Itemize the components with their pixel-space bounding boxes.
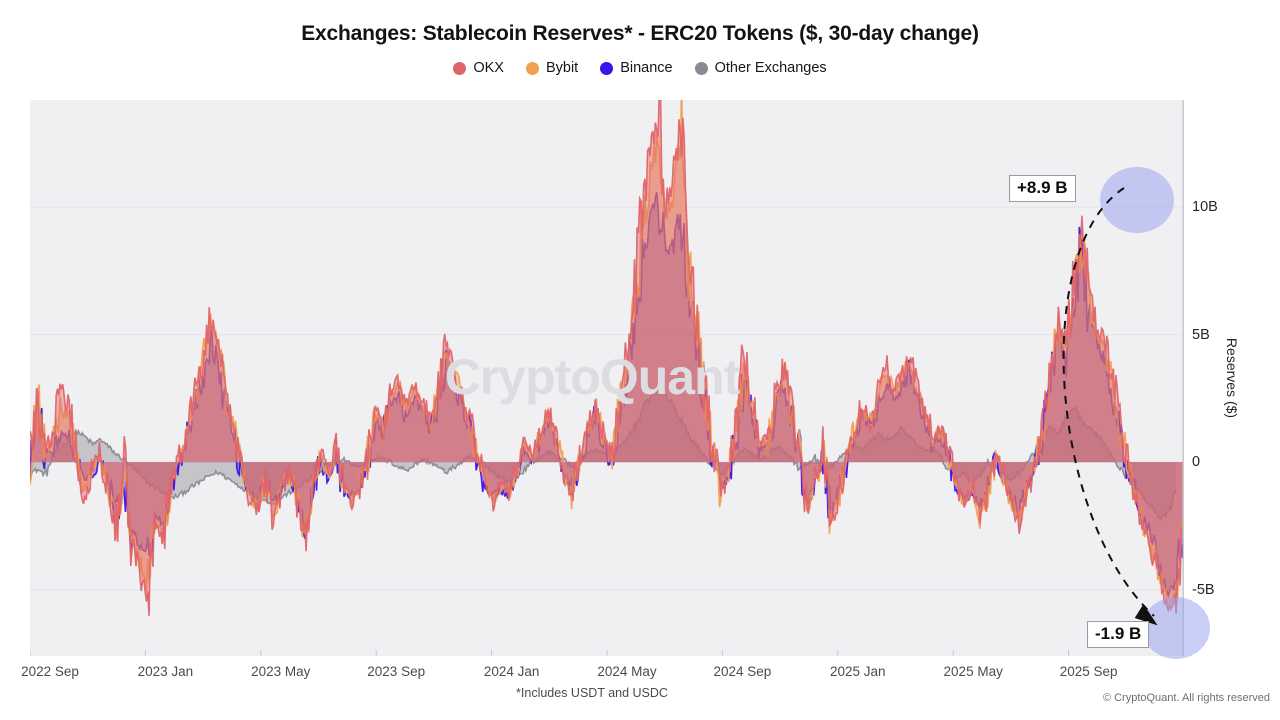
legend-label: Binance [620, 60, 672, 76]
footnote: *Includes USDT and USDC [0, 686, 1184, 700]
x-tick-label: 2024 May [597, 664, 656, 679]
legend-item-binance[interactable]: Binance [600, 60, 672, 76]
x-tick-label: 2023 Jan [138, 664, 194, 679]
legend-item-okx[interactable]: OKX [453, 60, 504, 76]
legend-swatch-icon [600, 62, 613, 75]
x-tick-label: 2023 May [251, 664, 310, 679]
low-callout: -1.9 B [1087, 621, 1149, 648]
x-tick-label: 2023 Sep [367, 664, 425, 679]
x-tick-label: 2025 May [944, 664, 1003, 679]
legend-label: OKX [473, 60, 504, 76]
high-callout: +8.9 B [1009, 175, 1076, 202]
legend-swatch-icon [526, 62, 539, 75]
legend-item-other-exchanges[interactable]: Other Exchanges [695, 60, 827, 76]
x-tick-label: 2024 Sep [713, 664, 771, 679]
x-tick-label: 2022 Sep [21, 664, 79, 679]
x-tick-label: 2025 Sep [1060, 664, 1118, 679]
y-tick-label: 0 [1192, 454, 1200, 470]
legend-label: Other Exchanges [715, 60, 827, 76]
y-tick-label: -5B [1192, 582, 1215, 598]
chart-root: Exchanges: Stablecoin Reserves* - ERC20 … [0, 0, 1280, 720]
legend-swatch-icon [695, 62, 708, 75]
chart-legend: OKXBybitBinanceOther Exchanges [0, 60, 1280, 76]
x-tick-label: 2024 Jan [484, 664, 540, 679]
legend-swatch-icon [453, 62, 466, 75]
legend-item-bybit[interactable]: Bybit [526, 60, 578, 76]
y-axis-title: Reserves ($) [1224, 338, 1240, 418]
x-tick-label: 2025 Jan [830, 664, 886, 679]
y-tick-label: 10B [1192, 199, 1218, 215]
copyright: © CryptoQuant. All rights reserved [1103, 692, 1270, 704]
legend-label: Bybit [546, 60, 578, 76]
chart-title: Exchanges: Stablecoin Reserves* - ERC20 … [0, 22, 1280, 46]
y-tick-label: 5B [1192, 327, 1210, 343]
